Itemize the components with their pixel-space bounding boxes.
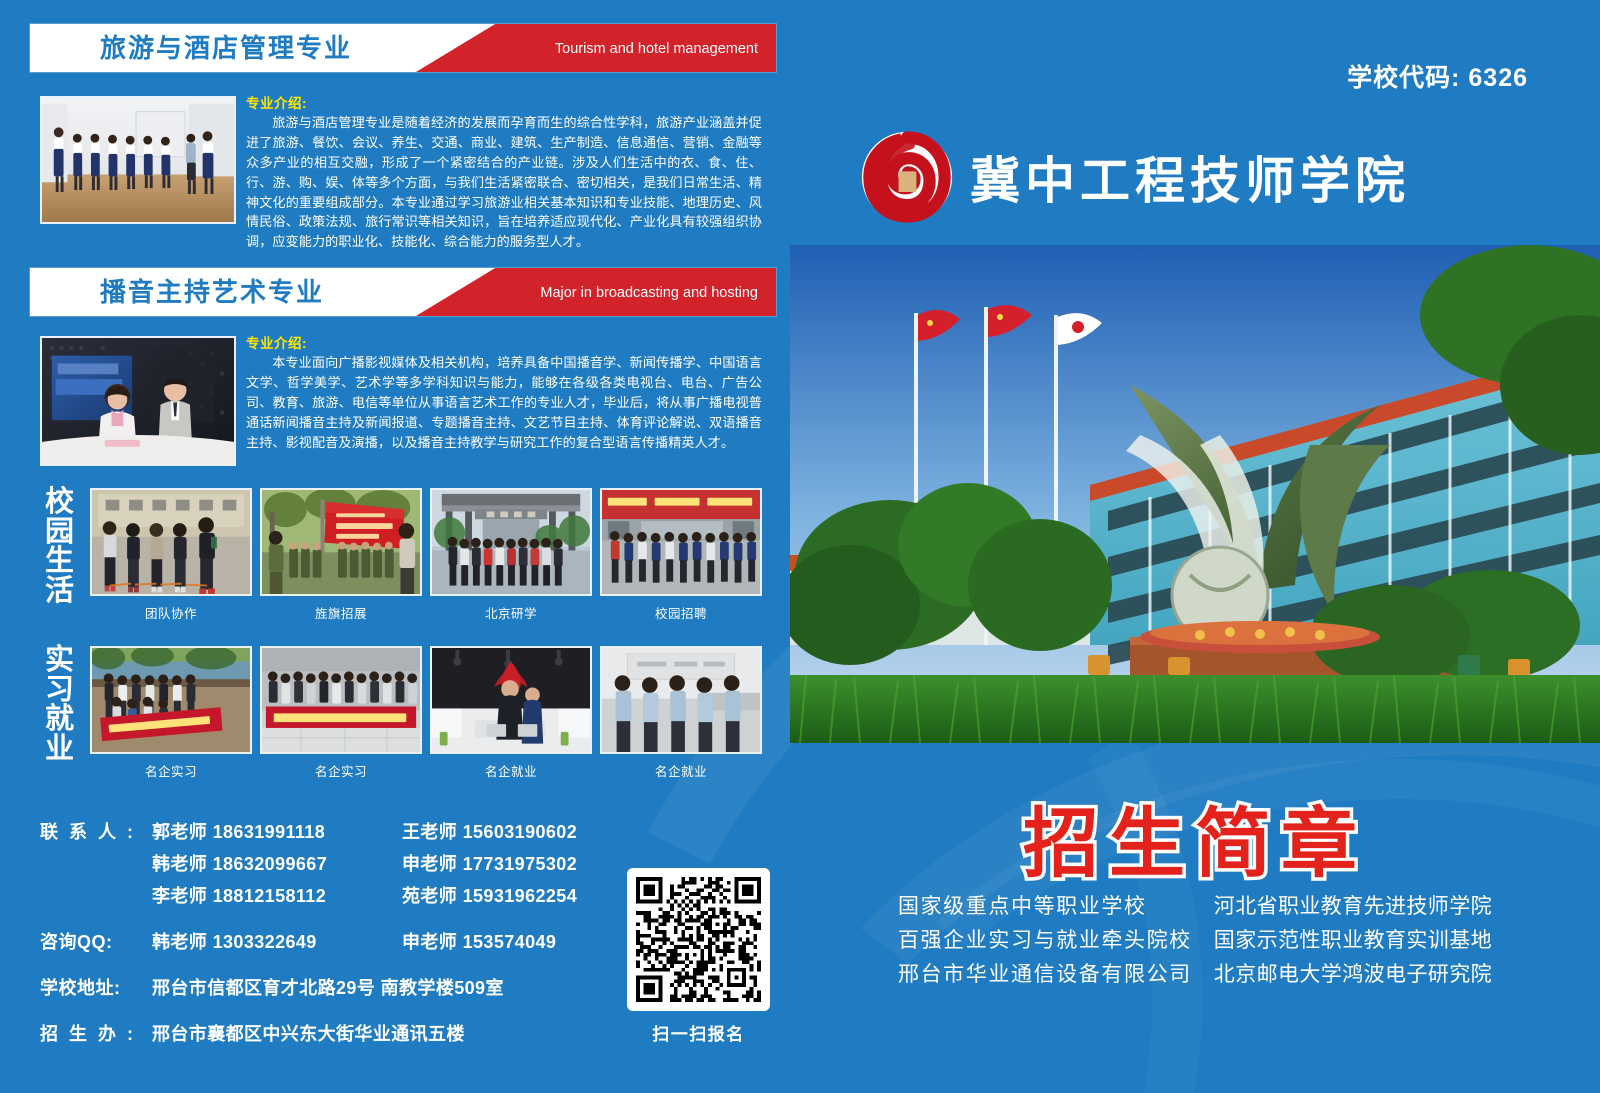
contact-person-4: 申老师 17731975302 — [402, 850, 577, 876]
major-title-cn: 播音主持艺术专业 — [100, 268, 324, 316]
credentials-column-left: 国家级重点中等职业学校 百强企业实习与就业牵头院校 邢台市华业通信设备有限公司 — [898, 890, 1192, 992]
contact-office-value: 邢台市襄都区中兴东大街华业通讯五楼 — [152, 1020, 465, 1046]
major-content-broadcasting: 专业介绍: 本专业面向广播影视媒体及相关机构，培养具备中国播音学、新闻传播学、中… — [30, 336, 776, 476]
credential-line: 北京邮电大学鸿波电子研究院 — [1214, 958, 1492, 992]
gallery-item[interactable]: 旌旗招展 — [260, 488, 422, 622]
credential-line: 国家示范性职业教育实训基地 — [1214, 924, 1492, 958]
contact-person-2: 王老师 15603190602 — [402, 818, 577, 844]
major-title-en: Tourism and hotel management — [555, 24, 758, 72]
credentials-column-right: 河北省职业教育先进技师学院 国家示范性职业教育实训基地 北京邮电大学鸿波电子研究… — [1214, 890, 1492, 992]
contact-row-qq: 咨询QQ: 韩老师 1303322649 申老师 153574049 — [40, 928, 620, 954]
intro-body: 旅游与酒店管理专业是随着经济的发展而孕育而生的综合性学科，旅游产业涵盖并促进了旅… — [246, 113, 762, 252]
contact-spacer — [40, 914, 620, 928]
contact-row-2: 韩老师 18632099667 申老师 17731975302 — [40, 850, 620, 876]
contact-address-value: 邢台市信都区育才北路29号 南教学楼509室 — [152, 974, 504, 1000]
gallery-caption: 名企就业 — [600, 761, 762, 780]
major-content-tourism: 专业介绍: 旅游与酒店管理专业是随着经济的发展而孕育而生的综合性学科，旅游产业涵… — [30, 96, 776, 246]
contact-row-office: 招 生 办 : 邢台市襄都区中兴东大街华业通讯五楼 — [40, 1020, 620, 1046]
contact-spacer — [40, 960, 620, 974]
gallery-row-campus-life: 团队协作 — [90, 488, 762, 622]
contact-person-3: 韩老师 18632099667 — [152, 850, 402, 876]
right-panel: 学校代码: 6326 冀中工程技师学院 — [790, 0, 1600, 1093]
summer-internship-photo — [90, 646, 252, 754]
major-banner-broadcasting: 播音主持艺术专业 Major in broadcasting and hosti… — [30, 268, 776, 316]
gallery-vertical-label-internship: 实习就业 — [40, 646, 80, 764]
banner-flag-parade-photo — [260, 488, 422, 596]
campus-recruitment-photo — [600, 488, 762, 596]
gallery-item[interactable]: 名企就业 — [600, 646, 762, 780]
contact-label-qq: 咨询QQ: — [40, 928, 152, 954]
gallery-item[interactable]: 校园招聘 — [600, 488, 762, 622]
credential-line: 邢台市华业通信设备有限公司 — [898, 958, 1192, 992]
intro-body: 本专业面向广播影视媒体及相关机构，培养具备中国播音学、新闻传播学、中国语言文学、… — [246, 353, 762, 452]
qr-caption: 扫一扫报名 — [627, 1020, 770, 1045]
credentials-block: 国家级重点中等职业学校 百强企业实习与就业牵头院校 邢台市华业通信设备有限公司 … — [790, 890, 1600, 992]
left-panel: 旅游与酒店管理专业 Tourism and hotel management — [0, 0, 790, 1093]
gallery-caption: 团队协作 — [90, 603, 252, 622]
gallery-row-internship: 名企实习 — [90, 646, 762, 780]
gallery-caption: 校园招聘 — [600, 603, 762, 622]
contact-spacer — [40, 1006, 620, 1020]
gallery-caption: 名企就业 — [430, 761, 592, 780]
gallery-item[interactable]: 北京研学 — [430, 488, 592, 622]
team-cooperation-photo — [90, 488, 252, 596]
school-name: 冀中工程技师学院 — [970, 141, 1410, 213]
intro-label: 专业介绍: — [246, 92, 762, 112]
contact-block: 联 系 人 : 郭老师 18631991118 王老师 15603190602 … — [40, 818, 620, 1052]
major-title-en: Major in broadcasting and hosting — [540, 268, 758, 316]
gallery-item[interactable]: 名企就业 — [430, 646, 592, 780]
hotel-management-training-photo — [40, 96, 236, 224]
contact-qq-2: 申老师 153574049 — [402, 928, 556, 954]
news-broadcasting-studio-photo — [40, 336, 236, 466]
gallery-caption: 名企实习 — [260, 761, 422, 780]
major-banner-tourism: 旅游与酒店管理专业 Tourism and hotel management — [30, 24, 776, 72]
major-text-broadcasting: 专业介绍: 本专业面向广播影视媒体及相关机构，培养具备中国播音学、新闻传播学、中… — [246, 332, 762, 452]
enrollment-title: 招生简章 — [790, 782, 1600, 892]
contact-row-address: 学校地址: 邢台市信都区育才北路29号 南教学楼509室 — [40, 974, 620, 1000]
gallery-caption: 北京研学 — [430, 603, 592, 622]
school-seal-logo — [860, 130, 954, 224]
school-code: 学校代码: 6326 — [1347, 58, 1528, 94]
gallery-item[interactable]: 名企实习 — [90, 646, 252, 780]
contact-label-office: 招 生 办 : — [40, 1020, 152, 1046]
contact-person-1: 郭老师 18631991118 — [152, 818, 402, 844]
credential-line: 百强企业实习与就业牵头院校 — [898, 924, 1192, 958]
gallery-item[interactable]: 团队协作 — [90, 488, 252, 622]
beijing-study-tour-photo — [430, 488, 592, 596]
intro-label: 专业介绍: — [246, 332, 762, 352]
contact-person-6: 苑老师 15931962254 — [402, 882, 577, 908]
major-title-cn: 旅游与酒店管理专业 — [100, 24, 352, 72]
contact-row-3: 李老师 18812158112 苑老师 15931962254 — [40, 882, 620, 908]
gallery-caption: 名企实习 — [90, 761, 252, 780]
gallery-item[interactable]: 名企实习 — [260, 646, 422, 780]
qr-block[interactable]: 扫一扫报名 — [627, 868, 770, 1045]
gallery-vertical-label-campus-life: 校园生活 — [40, 488, 80, 606]
contact-label-person: 联 系 人 : — [40, 818, 152, 844]
contact-row-1: 联 系 人 : 郭老师 18631991118 王老师 15603190602 — [40, 818, 620, 844]
contact-person-5: 李老师 18812158112 — [152, 882, 402, 908]
brand-row: 冀中工程技师学院 — [860, 130, 1410, 224]
credential-line: 河北省职业教育先进技师学院 — [1214, 890, 1492, 924]
huawei-employment-photo — [430, 646, 592, 754]
qr-code-box[interactable] — [627, 868, 770, 1011]
lenovo-internship-welcome-photo — [260, 646, 422, 754]
major-text-tourism: 专业介绍: 旅游与酒店管理专业是随着经济的发展而孕育而生的综合性学科，旅游产业涵… — [246, 92, 762, 252]
campus-sculpture-building-photo — [790, 245, 1600, 743]
credential-line: 国家级重点中等职业学校 — [898, 890, 1192, 924]
gallery-caption: 旌旗招展 — [260, 603, 422, 622]
contact-label-address: 学校地址: — [40, 974, 152, 1000]
qr-code-icon — [636, 877, 761, 1002]
factory-employment-photo — [600, 646, 762, 754]
contact-qq-1: 韩老师 1303322649 — [152, 928, 402, 954]
